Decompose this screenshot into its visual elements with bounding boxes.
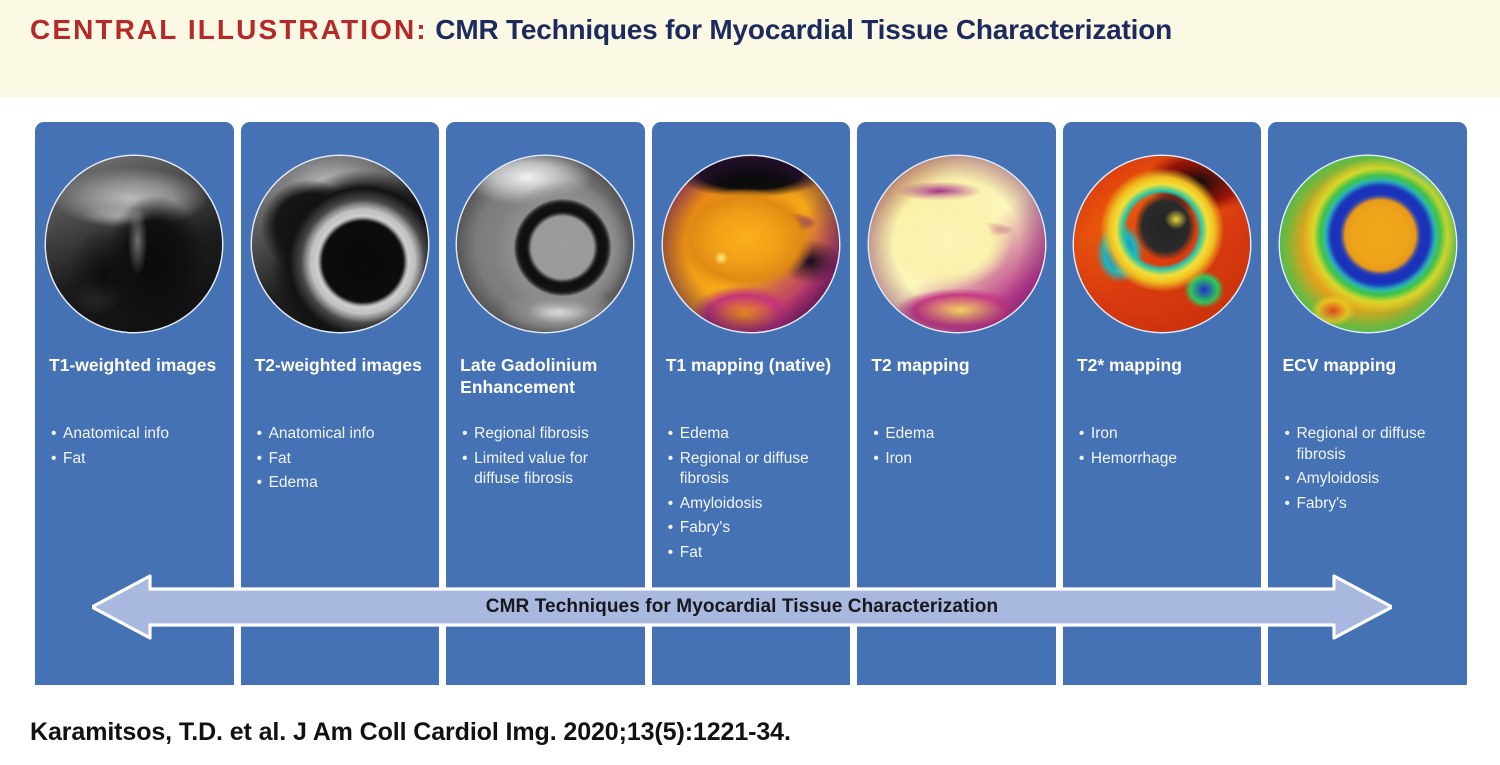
list-item: Fat (51, 449, 224, 470)
t2-mapping-color-image (869, 156, 1045, 332)
panel-title: T2 mapping (857, 354, 1056, 420)
page-title: CENTRAL ILLUSTRATION: CMR Techniques for… (30, 12, 1470, 48)
list-item: Edema (257, 473, 430, 494)
list-item: Limited value for diffuse fibrosis (462, 449, 635, 490)
list-item: Edema (873, 424, 1046, 445)
list-item: Iron (1079, 424, 1252, 445)
panel-title: T2-weighted images (241, 354, 440, 420)
list-item: Anatomical info (51, 424, 224, 445)
panel-title: Late Gadolinium Enhancement (446, 354, 645, 420)
panel-bullet-list: Edema Iron (857, 424, 1056, 469)
panel-bullet-list: Regional or diffuse fibrosis Amyloidosis… (1268, 424, 1467, 514)
panel-bullet-list: Iron Hemorrhage (1063, 424, 1262, 469)
figure-body: T1-weighted images Anatomical info Fat T… (0, 97, 1500, 697)
panel-title: T1 mapping (native) (652, 354, 851, 420)
t1-mapping-color-image (663, 156, 839, 332)
panel-image-wrap (35, 122, 234, 354)
panel-title: T2* mapping (1063, 354, 1262, 420)
panel-image-wrap (241, 122, 440, 354)
list-item: Edema (668, 424, 841, 445)
list-item: Amyloidosis (1284, 469, 1457, 490)
panel-title: ECV mapping (1268, 354, 1467, 420)
panel-title: T1-weighted images (35, 354, 234, 420)
panel-bullet-list: Anatomical info Fat (35, 424, 234, 469)
panel-image-wrap (1268, 122, 1467, 354)
panel-image-wrap (652, 122, 851, 354)
list-item: Regional fibrosis (462, 424, 635, 445)
t2-star-mapping-color-image (1074, 156, 1250, 332)
list-item: Fat (257, 449, 430, 470)
citation-text: Karamitsos, T.D. et al. J Am Coll Cardio… (30, 718, 791, 747)
panel-bullet-list: Edema Regional or diffuse fibrosis Amylo… (652, 424, 851, 563)
list-item: Fabry's (668, 518, 841, 539)
ecv-mapping-color-image (1280, 156, 1456, 332)
panel-image-wrap (857, 122, 1056, 354)
list-item: Regional or diffuse fibrosis (1284, 424, 1457, 465)
panel-image-wrap (1063, 122, 1262, 354)
list-item: Fat (668, 543, 841, 564)
list-item: Fabry's (1284, 494, 1457, 515)
t1-weighted-mri-image (46, 156, 222, 332)
list-item: Regional or diffuse fibrosis (668, 449, 841, 490)
list-item: Amyloidosis (668, 494, 841, 515)
panel-image-wrap (446, 122, 645, 354)
list-item: Anatomical info (257, 424, 430, 445)
list-item: Iron (873, 449, 1046, 470)
t2-weighted-mri-image (252, 156, 428, 332)
list-item: Hemorrhage (1079, 449, 1252, 470)
panel-bullet-list: Anatomical info Fat Edema (241, 424, 440, 494)
figure-header: CENTRAL ILLUSTRATION: CMR Techniques for… (0, 0, 1500, 97)
central-illustration-figure: CENTRAL ILLUSTRATION: CMR Techniques for… (0, 0, 1500, 765)
central-illustration-label: CENTRAL ILLUSTRATION: (30, 14, 428, 45)
late-gadolinium-enhancement-mri-image (457, 156, 633, 332)
figure-title-text: CMR Techniques for Myocardial Tissue Cha… (435, 14, 1172, 45)
panel-bullet-list: Regional fibrosis Limited value for diff… (446, 424, 645, 490)
arrow-banner-label: CMR Techniques for Myocardial Tissue Cha… (92, 574, 1392, 640)
